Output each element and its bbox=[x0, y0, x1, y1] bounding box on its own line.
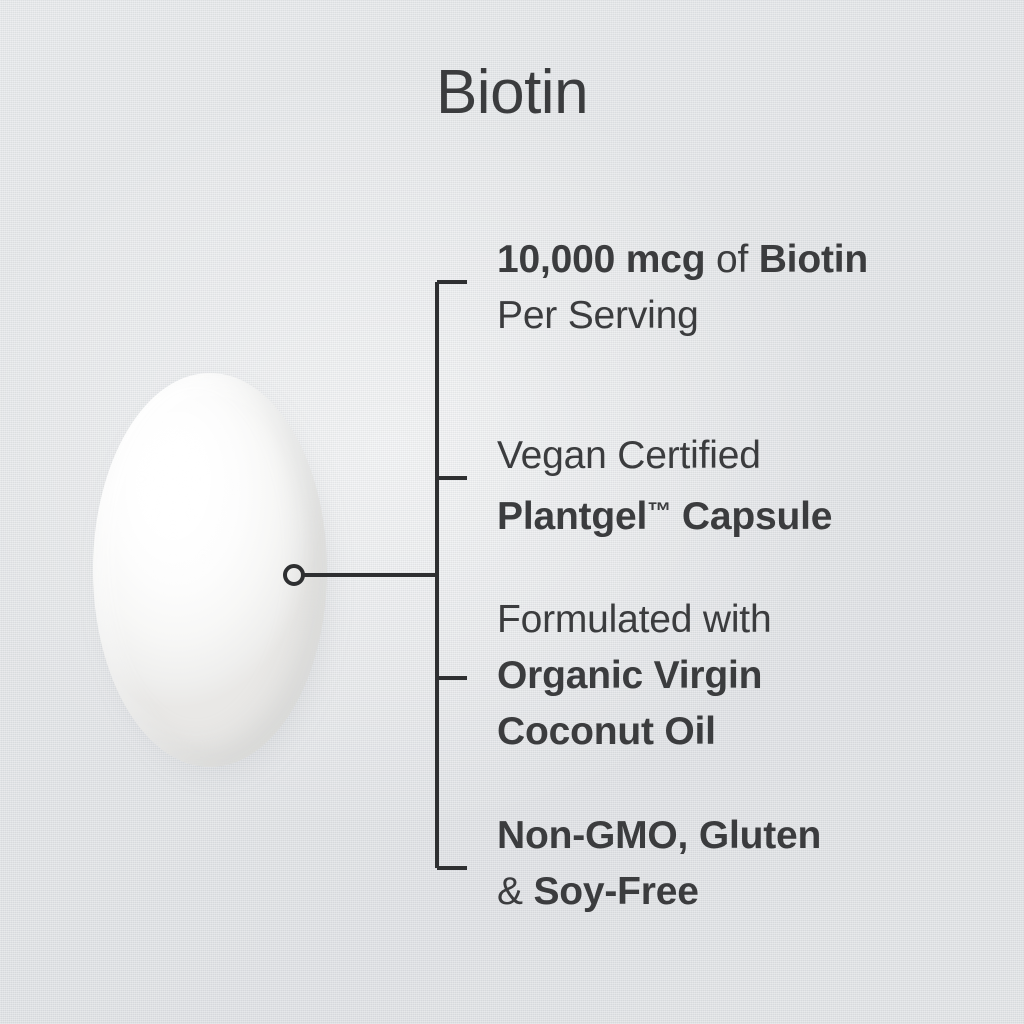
capsule-image bbox=[93, 373, 327, 767]
callout-text-run: Soy-Free bbox=[533, 870, 698, 913]
callout-line: Coconut Oil bbox=[497, 704, 771, 760]
capsule-body bbox=[93, 373, 327, 767]
callout-line: & Soy-Free bbox=[497, 864, 821, 920]
callout-line: Per Serving bbox=[497, 288, 868, 344]
callout-line: Non-GMO, Gluten bbox=[497, 808, 821, 864]
callout-text-run: Biotin bbox=[759, 238, 868, 281]
callout-text-run: ™ bbox=[647, 498, 671, 525]
callout-line: Plantgel™ Capsule bbox=[497, 484, 832, 545]
product-infographic: Biotin 10,000 mcg of BiotinPer Serving V… bbox=[0, 0, 1024, 1024]
callout-text-run: Non-GMO, Gluten bbox=[497, 814, 821, 857]
callout-text-run: Plantgel bbox=[497, 495, 647, 538]
callout-text-run: Formulated with bbox=[497, 598, 771, 641]
callout-text-run: Coconut Oil bbox=[497, 710, 716, 753]
callout-line: 10,000 mcg of Biotin bbox=[497, 232, 868, 288]
callout-line: Vegan Certified bbox=[497, 428, 832, 484]
callout-text-run: Per Serving bbox=[497, 294, 699, 337]
page-title: Biotin bbox=[0, 58, 1024, 128]
callout-dose: 10,000 mcg of BiotinPer Serving bbox=[497, 232, 868, 344]
callout-text-run: & bbox=[497, 870, 533, 913]
callout-text-run: Capsule bbox=[671, 495, 832, 538]
callout-line: Formulated with bbox=[497, 592, 771, 648]
callout-free-from: Non-GMO, Gluten& Soy-Free bbox=[497, 808, 821, 920]
callout-text-run: Vegan Certified bbox=[497, 434, 761, 477]
callout-text-run: Organic Virgin bbox=[497, 654, 762, 697]
callout-text-run: of bbox=[705, 238, 758, 281]
callout-text-run: 10,000 mcg bbox=[497, 238, 705, 281]
callout-formulation: Formulated withOrganic VirginCoconut Oil bbox=[497, 592, 771, 760]
callout-capsule-type: Vegan CertifiedPlantgel™ Capsule bbox=[497, 428, 832, 545]
callout-line: Organic Virgin bbox=[497, 648, 771, 704]
capsule-highlight bbox=[119, 407, 239, 587]
